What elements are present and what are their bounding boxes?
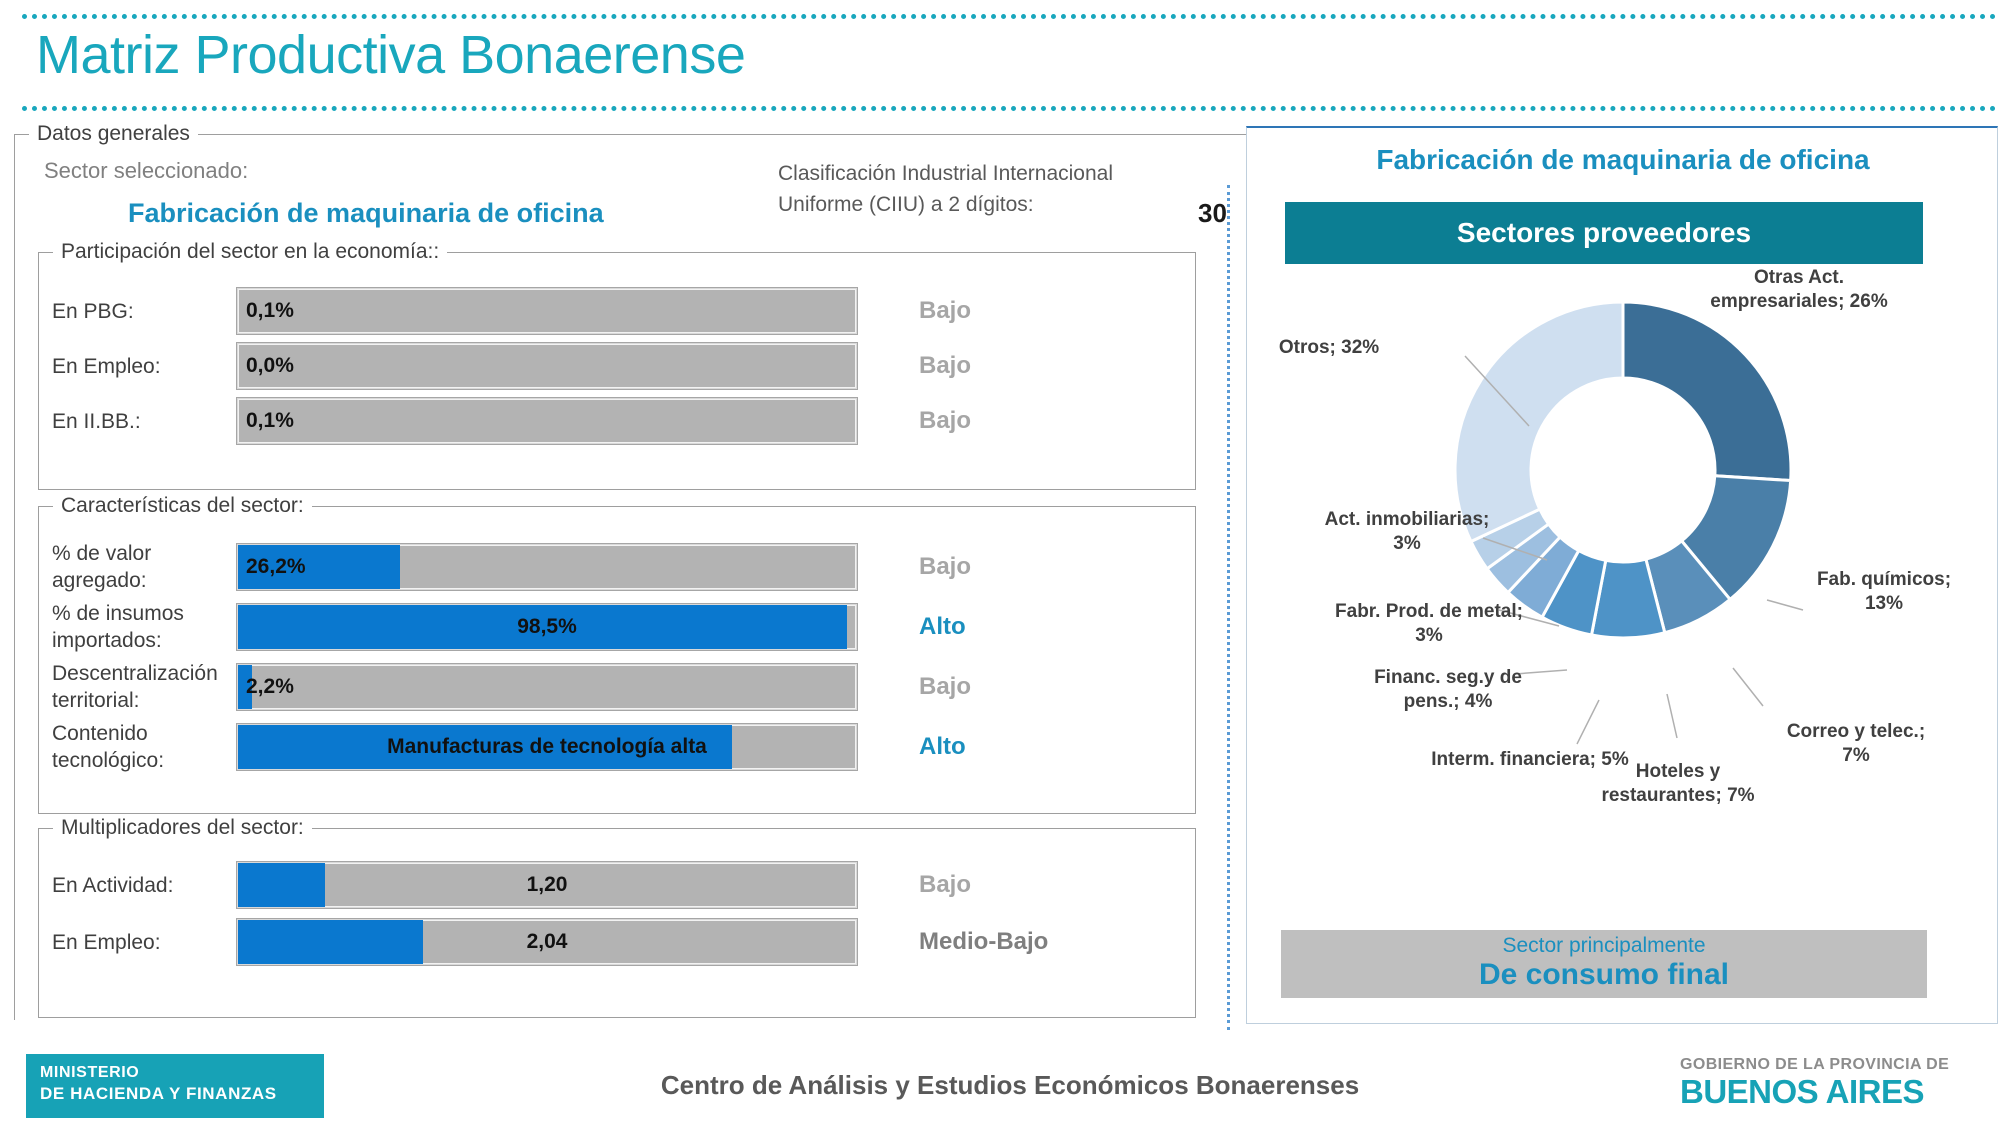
metric-verdict: Alto bbox=[857, 613, 1087, 641]
donut-slice[interactable] bbox=[1623, 302, 1791, 481]
metric-row-label: En II.BB.: bbox=[52, 408, 237, 435]
sector-destination-value: De consumo final bbox=[1281, 958, 1927, 992]
buenos-aires-logo: GOBIERNO DE LA PROVINCIA DE BUENOS AIRES bbox=[1680, 1056, 1980, 1110]
metric-row-label: % de valor agregado: bbox=[52, 540, 237, 594]
metric-bar-value: 2,2% bbox=[246, 665, 294, 709]
donut-slice-label: Correo y telec.; 7% bbox=[1781, 720, 1931, 768]
donut-slice-label: Financ. seg.y de pens.; 4% bbox=[1353, 666, 1543, 714]
title-dotted-rule-top bbox=[22, 14, 1997, 19]
metric-bar-track: 0,1% bbox=[237, 398, 857, 444]
metric-bar-track: Manufacturas de tecnología alta bbox=[237, 724, 857, 770]
metric-bar-value: 1,20 bbox=[238, 863, 856, 907]
sector-destination-box: Sector principalmente De consumo final bbox=[1281, 930, 1927, 998]
metric-bar-track: 2,04 bbox=[237, 919, 857, 965]
metric-row: En PBG:0,1%Bajo bbox=[52, 288, 1087, 334]
right-panel-title: Fabricación de maquinaria de oficina bbox=[1247, 144, 1999, 176]
metric-bar-track: 98,5% bbox=[237, 604, 857, 650]
multiplicadores-legend: Multiplicadores del sector: bbox=[53, 816, 312, 840]
bottom-bar: MINISTERIO DE HACIENDA Y FINANZAS Centro… bbox=[0, 1032, 2013, 1145]
metric-verdict: Bajo bbox=[857, 673, 1087, 701]
metric-row-label: % de insumos importados: bbox=[52, 600, 237, 654]
metric-row: Contenido tecnológico:Manufacturas de te… bbox=[52, 720, 1087, 774]
donut-slice-label: Otros; 32% bbox=[1229, 336, 1429, 360]
donut-slice-label: Fab. químicos; 13% bbox=[1809, 568, 1959, 616]
ministry-logo-line1: MINISTERIO bbox=[40, 1064, 324, 1082]
metric-row: En Actividad:1,20Bajo bbox=[52, 862, 1087, 908]
metric-bar-value: 2,04 bbox=[238, 920, 856, 964]
gov-logo-line1: GOBIERNO DE LA PROVINCIA DE bbox=[1680, 1056, 1980, 1074]
metric-verdict: Bajo bbox=[857, 407, 1087, 435]
metric-row-label: En PBG: bbox=[52, 298, 237, 325]
metric-bar-track: 1,20 bbox=[237, 862, 857, 908]
donut-slice-label: Interm. financiera; 5% bbox=[1415, 748, 1645, 772]
page-title: Matriz Productiva Bonaerense bbox=[36, 24, 745, 86]
ciiu-value: 30 bbox=[1198, 198, 1227, 229]
center-credit: Centro de Análisis y Estudios Económicos… bbox=[560, 1070, 1460, 1101]
participacion-legend: Participación del sector en la economía:… bbox=[53, 240, 447, 264]
title-dotted-rule-bottom bbox=[22, 106, 1997, 111]
title-band: Matriz Productiva Bonaerense bbox=[22, 14, 1997, 110]
ministry-logo-line2: DE HACIENDA Y FINANZAS bbox=[40, 1084, 324, 1104]
donut-slice-label: Otras Act. empresariales; 26% bbox=[1699, 266, 1899, 314]
metric-verdict: Alto bbox=[857, 733, 1087, 761]
donut-slice[interactable] bbox=[1455, 302, 1623, 542]
caracteristicas-legend: Características del sector: bbox=[53, 494, 312, 518]
metric-row: Descentralización territorial:2,2%Bajo bbox=[52, 660, 1087, 714]
donut-label-leader-line bbox=[1577, 700, 1599, 744]
metric-bar-value: 0,1% bbox=[246, 399, 294, 443]
metric-row-label: En Empleo: bbox=[52, 929, 237, 956]
right-panel-footer: Sector principalmente De consumo final bbox=[1247, 870, 1999, 1010]
ministry-logo: MINISTERIO DE HACIENDA Y FINANZAS bbox=[26, 1054, 324, 1118]
metric-row-label: Contenido tecnológico: bbox=[52, 720, 237, 774]
donut-slice-label: Fabr. Prod. de metal; 3% bbox=[1329, 600, 1529, 648]
donut-label-leader-line bbox=[1667, 694, 1677, 738]
metric-row: % de valor agregado:26,2%Bajo bbox=[52, 540, 1087, 594]
metric-bar-value: 0,0% bbox=[246, 344, 294, 388]
metric-bar-value: 26,2% bbox=[246, 545, 306, 589]
metric-bar-track: 0,1% bbox=[237, 288, 857, 334]
donut-label-leader-line bbox=[1767, 600, 1803, 610]
metric-verdict: Bajo bbox=[857, 297, 1087, 325]
donut-label-leader-line bbox=[1733, 668, 1763, 706]
metric-verdict: Medio-Bajo bbox=[857, 928, 1087, 956]
donut-chart: Otras Act. empresariales; 26%Fab. químic… bbox=[1247, 208, 1999, 868]
sector-destination-caption: Sector principalmente bbox=[1281, 934, 1927, 958]
metric-bar-value: Manufacturas de tecnología alta bbox=[238, 725, 856, 769]
metric-row: En II.BB.:0,1%Bajo bbox=[52, 398, 1087, 444]
ciiu-label: Clasificación Industrial Internacional U… bbox=[778, 158, 1178, 220]
gov-logo-line2: BUENOS AIRES bbox=[1680, 1074, 1980, 1110]
vertical-dotted-divider bbox=[1227, 185, 1230, 1030]
metric-verdict: Bajo bbox=[857, 352, 1087, 380]
donut-slice-label: Act. inmobiliarias; 3% bbox=[1317, 508, 1497, 556]
right-panel: Fabricación de maquinaria de oficina Sec… bbox=[1246, 126, 1998, 1024]
sector-selected-label: Sector seleccionado: bbox=[44, 158, 248, 184]
metric-verdict: Bajo bbox=[857, 553, 1087, 581]
metric-row-label: En Actividad: bbox=[52, 872, 237, 899]
metric-row: En Empleo:2,04Medio-Bajo bbox=[52, 919, 1087, 965]
metric-row: En Empleo:0,0%Bajo bbox=[52, 343, 1087, 389]
metric-bar-value: 98,5% bbox=[238, 605, 856, 649]
app-root: Matriz Productiva Bonaerense Datos gener… bbox=[0, 0, 2013, 1145]
metric-bar-track: 26,2% bbox=[237, 544, 857, 590]
metric-verdict: Bajo bbox=[857, 871, 1087, 899]
datos-generales-legend: Datos generales bbox=[29, 122, 198, 146]
metric-row: % de insumos importados:98,5%Alto bbox=[52, 600, 1087, 654]
sector-name-value[interactable]: Fabricación de maquinaria de oficina bbox=[128, 198, 604, 229]
metric-row-label: Descentralización territorial: bbox=[52, 660, 237, 714]
metric-row-label: En Empleo: bbox=[52, 353, 237, 380]
metric-bar-track: 0,0% bbox=[237, 343, 857, 389]
metric-bar-value: 0,1% bbox=[246, 289, 294, 333]
metric-bar-track: 2,2% bbox=[237, 664, 857, 710]
